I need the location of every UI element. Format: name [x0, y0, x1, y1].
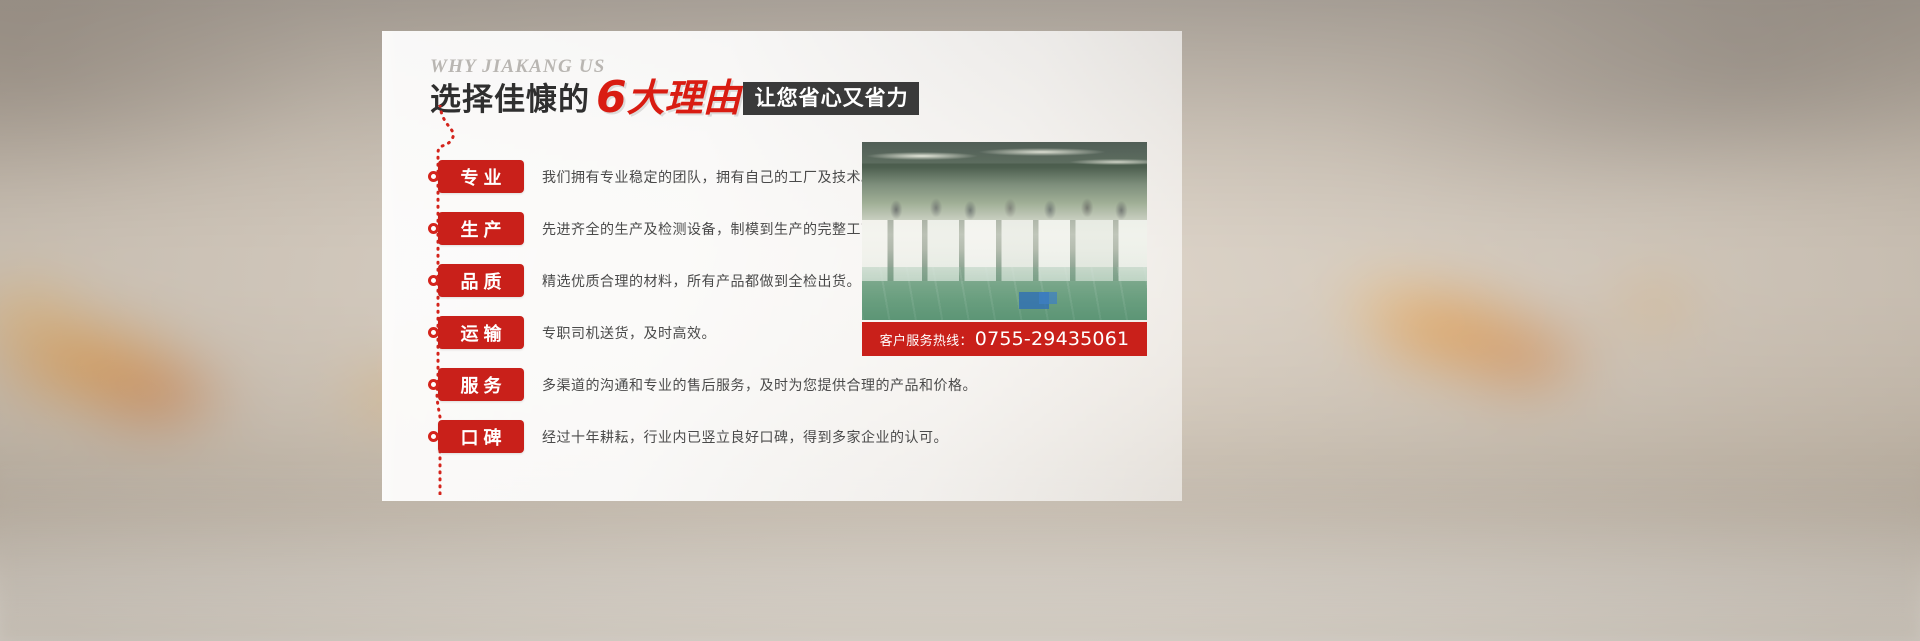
factory-photo-floor: [862, 267, 1147, 320]
heading-red-text: 大理由: [627, 78, 741, 118]
reason-text-1: 我们拥有专业稳定的团队，拥有自己的工厂及技术。: [542, 167, 876, 187]
heading-tagline-box: 让您省心又省力: [743, 82, 919, 115]
reason-text-3: 精选优质合理的材料，所有产品都做到全检出货。: [542, 271, 861, 291]
reason-badge-label-6: 口碑: [456, 424, 507, 450]
heading-main-line: 选择佳慷的 6 大理由 让您省心又省力: [430, 78, 919, 118]
reason-badge-2: 生产: [438, 212, 524, 245]
heading-english-subtitle: WHY JIAKANG US: [430, 56, 606, 78]
factory-photo: [862, 142, 1147, 320]
reason-badge-6: 口碑: [438, 420, 524, 453]
bullet-dot-icon: [428, 431, 439, 442]
reason-badge-label-2: 生产: [456, 216, 507, 242]
reason-badge-4: 运输: [438, 316, 524, 349]
reason-text-2: 先进齐全的生产及检测设备，制模到生产的完整工艺。: [542, 219, 890, 239]
reason-badge-label-4: 运输: [456, 320, 507, 346]
reason-badge-5: 服务: [438, 368, 524, 401]
reason-badge-1: 专业: [438, 160, 524, 193]
hotline-number: 0755-29435061: [975, 328, 1130, 350]
hotline-label: 客户服务热线：: [880, 330, 973, 349]
heading-number: 6: [596, 78, 627, 118]
heading-chinese-prefix: 选择佳慷的: [430, 82, 590, 118]
reason-item-5[interactable]: 服务 多渠道的沟通和专业的售后服务，及时为您提供合理的产品和价格。: [438, 368, 958, 401]
reason-item-6[interactable]: 口碑 经过十年耕耘，行业内已竖立良好口碑，得到多家企业的认可。: [438, 420, 958, 453]
heading-block: WHY JIAKANG US 选择佳慷的 6 大理由 让您省心又省力: [430, 56, 1130, 118]
reason-badge-label-1: 专业: [456, 164, 507, 190]
reason-badge-label-5: 服务: [456, 372, 507, 398]
reason-badge-label-3: 品质: [456, 268, 507, 294]
bullet-dot-icon: [428, 171, 439, 182]
banner-stage: WHY JIAKANG US 选择佳慷的 6 大理由 让您省心又省力 专业 我们…: [0, 0, 1920, 641]
reason-text-6: 经过十年耕耘，行业内已竖立良好口碑，得到多家企业的认可。: [542, 427, 948, 447]
bullet-dot-icon: [428, 223, 439, 234]
factory-photo-bin-2: [1039, 292, 1057, 304]
factory-photo-workers: [862, 188, 1147, 224]
bullet-dot-icon: [428, 379, 439, 390]
bullet-dot-icon: [428, 275, 439, 286]
hotline-bar[interactable]: 客户服务热线： 0755-29435061: [862, 322, 1147, 356]
reason-badge-3: 品质: [438, 264, 524, 297]
bullet-dot-icon: [428, 327, 439, 338]
reason-text-5: 多渠道的沟通和专业的售后服务，及时为您提供合理的产品和价格。: [542, 375, 977, 395]
reason-text-4: 专职司机送货，及时高效。: [542, 323, 716, 343]
